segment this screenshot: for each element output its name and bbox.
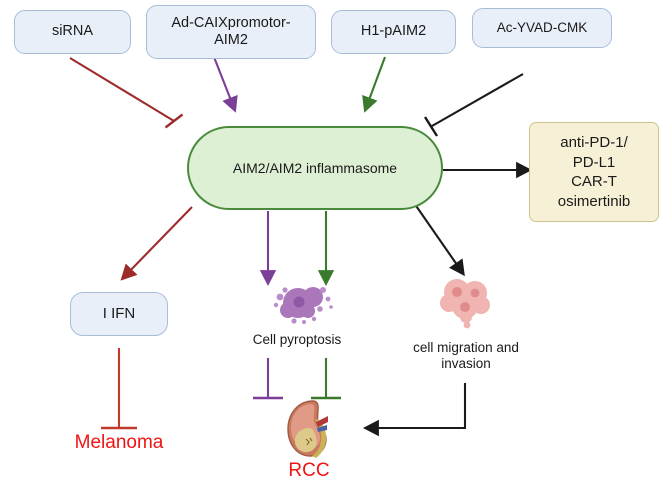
therapy-line-4: osimertinib [558, 192, 631, 212]
outcome-rcc-label: RCC [288, 460, 329, 481]
caption-migration-line-1: cell migration and [392, 340, 540, 356]
input-node-h1-paim2-label: H1-pAIM2 [361, 23, 426, 40]
caption-cell-migration-invasion: cell migration and invasion [392, 340, 540, 372]
caption-cell-pyroptosis: Cell pyroptosis [235, 332, 359, 348]
bursting-cell-icon [268, 277, 342, 329]
input-node-ac-yvad-cmk-label: Ac-YVAD-CMK [497, 20, 588, 36]
therapy-line-3: CAR-T [571, 172, 617, 192]
input-node-sirna[interactable]: siRNA [14, 10, 131, 54]
edge-adcaix-activates-hub [214, 57, 234, 108]
outcome-melanoma: Melanoma [52, 432, 186, 454]
therapy-line-1: anti-PD-1/ [560, 133, 628, 153]
pathway-diagram: hub --> hub --> therapy --> I IFN --> py… [0, 0, 667, 498]
edge-h1paim2-activates-hub [366, 57, 385, 108]
edge-migration-to-rcc [368, 383, 465, 428]
input-node-ac-yvad-cmk[interactable]: Ac-YVAD-CMK [472, 8, 612, 48]
edge-hub-to-migration [412, 200, 462, 272]
kidney-icon [282, 398, 336, 460]
ifn-node[interactable]: I IFN [70, 292, 168, 336]
input-node-ad-caix-label: Ad-CAIXpromotor-AIM2 [155, 15, 307, 49]
outcome-melanoma-label: Melanoma [75, 432, 164, 453]
edge-hub-to-ifn [124, 207, 192, 277]
ifn-node-label: I IFN [103, 305, 136, 323]
edge-acyvad-inhibits-hub [425, 74, 523, 136]
hub-node-aim2-inflammasome[interactable]: AIM2/AIM2 inflammasome [187, 126, 443, 210]
caption-cell-pyroptosis-label: Cell pyroptosis [253, 332, 342, 347]
therapy-line-2: PD-L1 [573, 153, 616, 173]
therapy-node-box[interactable]: anti-PD-1/ PD-L1 CAR-T osimertinib [529, 122, 659, 222]
edge-pyroptosis-inhibits-rcc-purple [253, 358, 283, 398]
hub-node-label: AIM2/AIM2 inflammasome [233, 160, 397, 177]
edge-ifn-inhibits-melanoma [101, 348, 137, 428]
edge-sirna-inhibits-hub [70, 58, 183, 128]
input-node-ad-caix[interactable]: Ad-CAIXpromotor-AIM2 [146, 5, 316, 59]
input-node-sirna-label: siRNA [52, 23, 93, 40]
input-node-h1-paim2[interactable]: H1-pAIM2 [331, 10, 456, 54]
edge-pyroptosis-inhibits-rcc-green [311, 358, 341, 398]
outcome-rcc: RCC [272, 460, 346, 482]
caption-migration-line-2: invasion [392, 356, 540, 372]
tumor-cell-cluster-icon [435, 272, 497, 334]
